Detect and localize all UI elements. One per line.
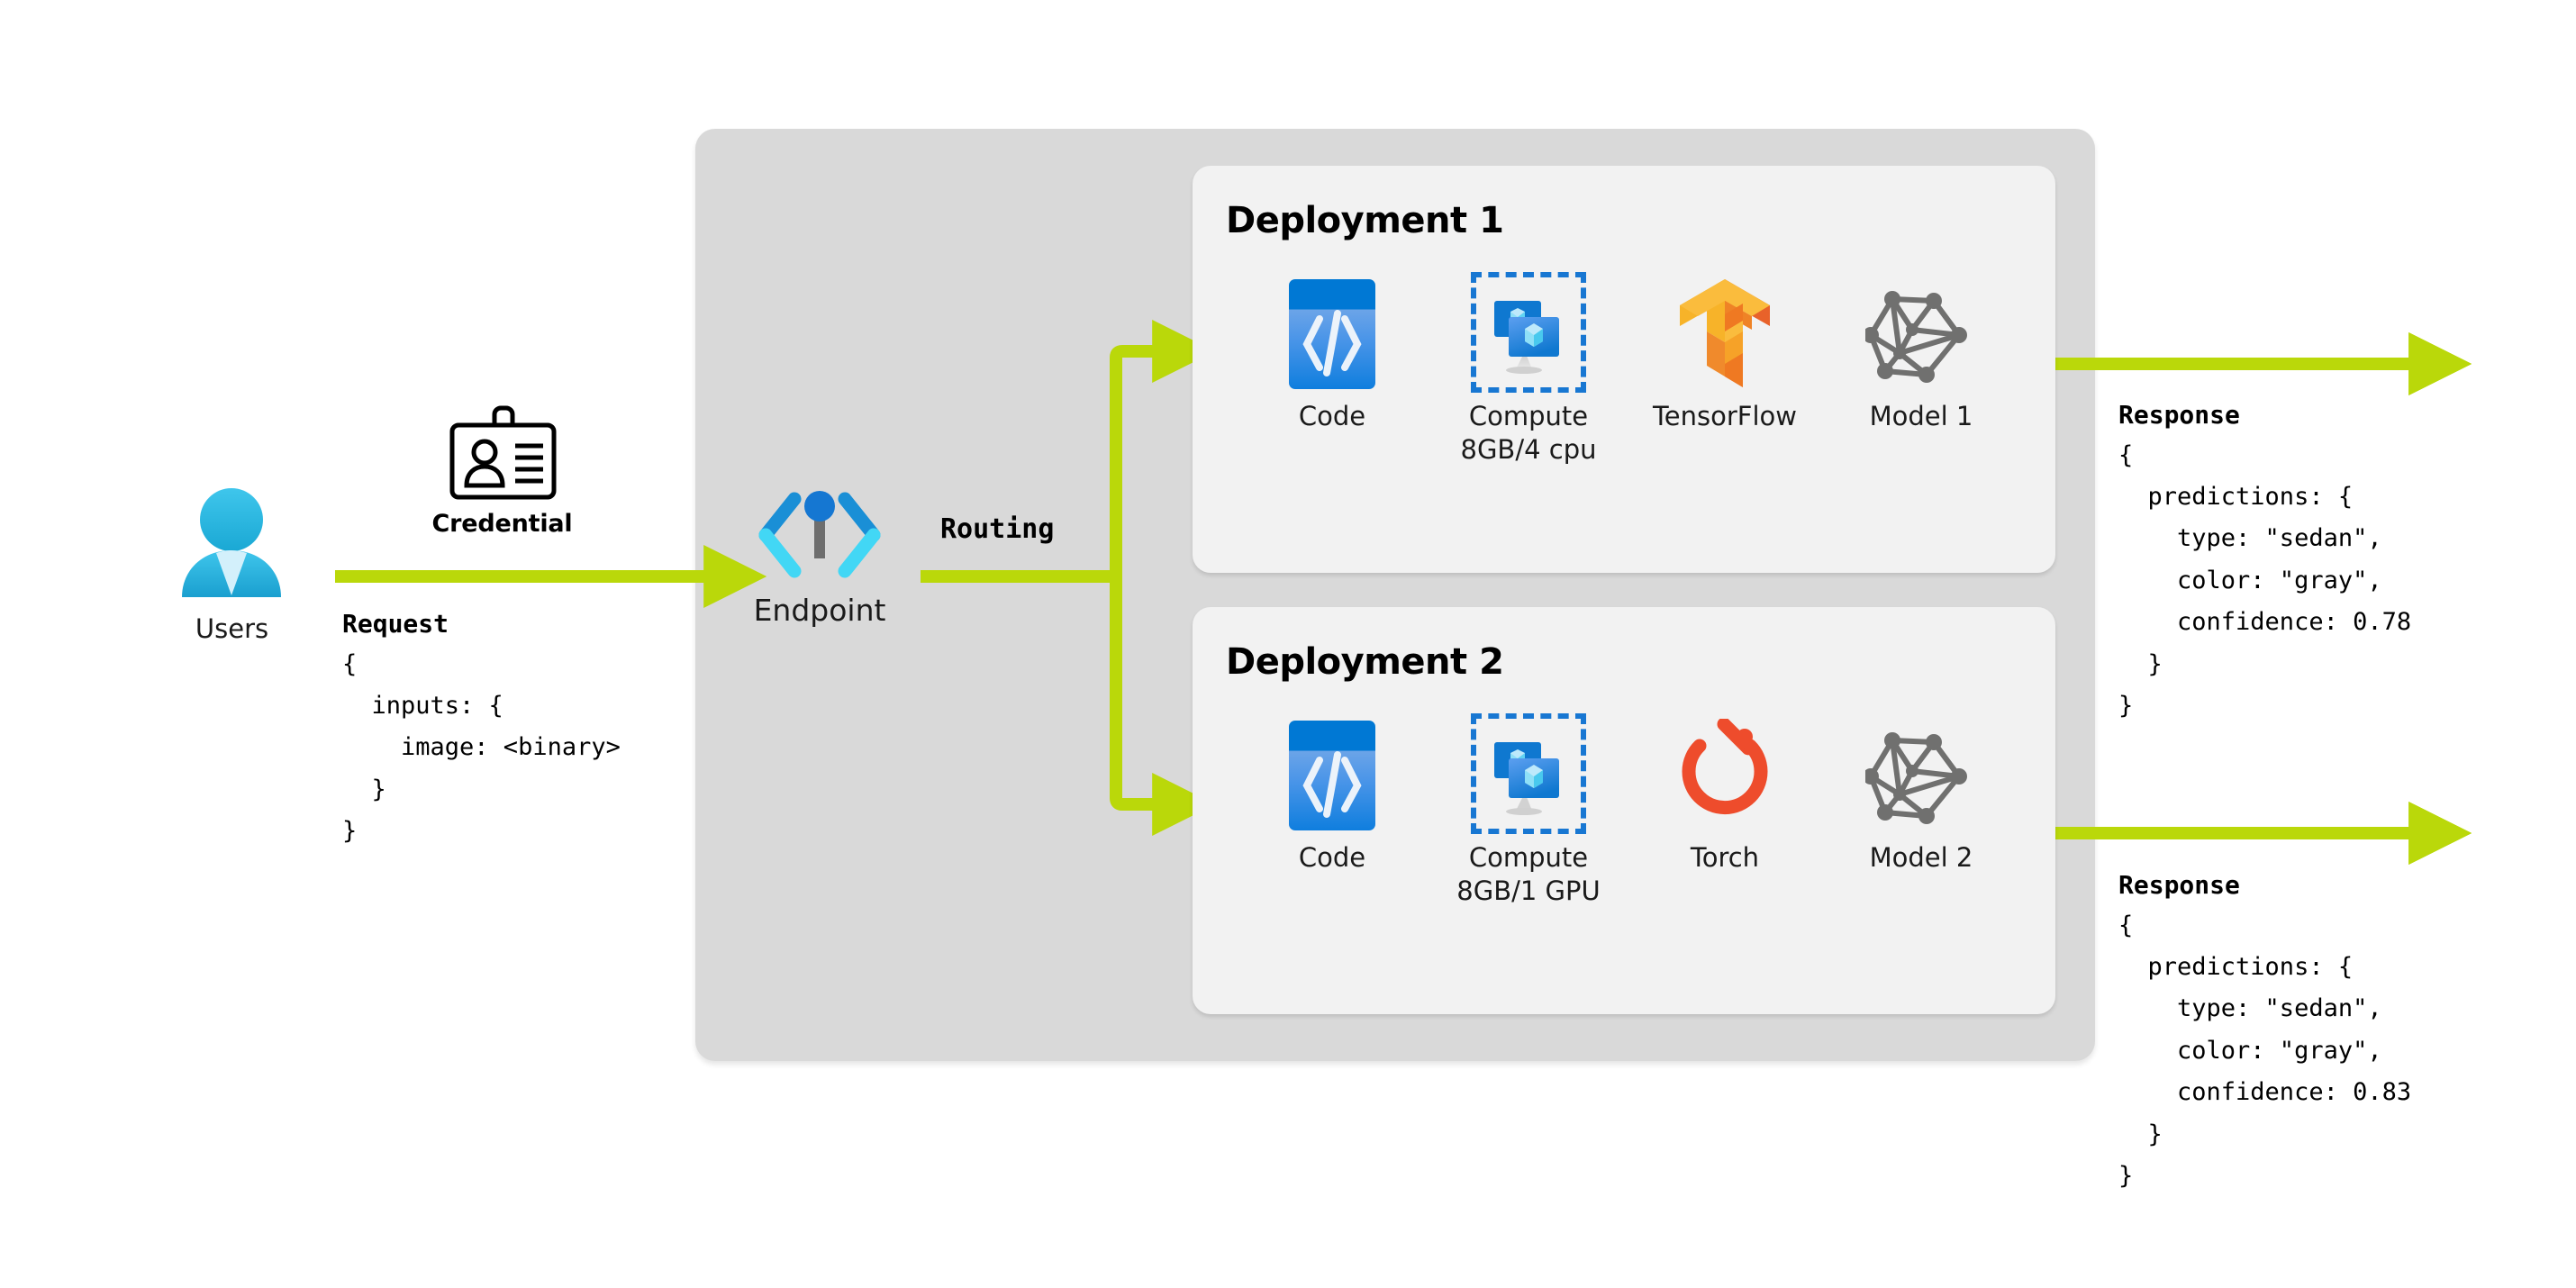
tensorflow-logo-icon (1671, 276, 1779, 391)
compute-monitors-icon (1482, 728, 1575, 821)
code-icon (1247, 274, 1418, 393)
deployment-2-compute-item[interactable]: Compute 8GB/1 GPU (1443, 715, 1614, 908)
code-glyph-icon (1289, 721, 1375, 830)
deployment-1-framework-item[interactable]: TensorFlow (1639, 274, 1810, 433)
deployment-2-model-label: Model 2 (1836, 841, 2007, 875)
routing-label: Routing (940, 513, 1054, 545)
response-2-heading: Response (2118, 866, 2411, 905)
deployment-1-framework-label: TensorFlow (1639, 400, 1810, 433)
users-label: Users (167, 613, 297, 644)
deployment-2-compute-sublabel: 8GB/1 GPU (1443, 875, 1614, 908)
deployment-2-code-item[interactable]: Code (1247, 715, 1418, 875)
response-payload-2: Response { predictions: { type: "sedan",… (2118, 866, 2411, 1198)
deployment-2-icon-row: Code (1247, 715, 2021, 985)
code-glyph-icon (1289, 279, 1375, 389)
deployment-1-compute-sublabel: 8GB/4 cpu (1443, 433, 1614, 467)
request-body: { inputs: { image: <binary> } } (342, 644, 621, 853)
compute-instance-icon (1443, 274, 1614, 393)
response-1-body: { predictions: { type: "sedan", color: "… (2118, 435, 2411, 728)
credential-label: Credential (423, 510, 581, 538)
response-1-heading: Response (2118, 396, 2411, 435)
endpoint-node: Endpoint (739, 486, 901, 628)
deployment-2-code-label: Code (1247, 841, 1418, 875)
request-heading: Request (342, 605, 621, 644)
request-payload: Request { inputs: { image: <binary> } } (342, 605, 621, 853)
response-2-body: { predictions: { type: "sedan", color: "… (2118, 905, 2411, 1198)
deployment-1-code-label: Code (1247, 400, 1418, 433)
model-graph-icon (1836, 274, 2007, 393)
endpoint-label: Endpoint (739, 593, 901, 628)
pytorch-logo-icon (1673, 719, 1777, 830)
deployment-1-icon-row: Code (1247, 274, 2021, 544)
diagram-canvas: Users Credential Request { inputs: { ima… (0, 0, 2576, 1288)
compute-monitors-icon (1482, 286, 1575, 380)
deployment-1-title: Deployment 1 (1226, 200, 1503, 241)
endpoint-code-brackets-icon (753, 486, 886, 584)
id-badge-icon (444, 405, 561, 503)
pytorch-icon (1639, 715, 1810, 834)
deployment-2-title: Deployment 2 (1226, 641, 1503, 683)
tensorflow-icon (1639, 274, 1810, 393)
deployment-panel-2[interactable]: Deployment 2 Code (1193, 607, 2055, 1014)
deployment-panel-1[interactable]: Deployment 1 Code (1193, 166, 2055, 573)
deployment-2-framework-item[interactable]: Torch (1639, 715, 1810, 875)
model-network-icon (1865, 277, 1977, 389)
model-graph-icon (1836, 715, 2007, 834)
users-node: Users (167, 482, 297, 644)
credential-node: Credential (423, 405, 581, 538)
deployment-2-framework-label: Torch (1639, 841, 1810, 875)
deployment-2-model-item[interactable]: Model 2 (1836, 715, 2007, 875)
deployment-1-compute-item[interactable]: Compute 8GB/4 cpu (1443, 274, 1614, 467)
deployment-1-model-label: Model 1 (1836, 400, 2007, 433)
deployment-1-model-item[interactable]: Model 1 (1836, 274, 2007, 433)
code-icon (1247, 715, 1418, 834)
deployment-2-compute-label: Compute (1443, 841, 1614, 875)
model-network-icon (1865, 719, 1977, 830)
response-payload-1: Response { predictions: { type: "sedan",… (2118, 396, 2411, 728)
compute-instance-icon (1443, 715, 1614, 834)
user-avatar-icon (167, 482, 297, 608)
deployment-1-compute-label: Compute (1443, 400, 1614, 433)
deployment-1-code-item[interactable]: Code (1247, 274, 1418, 433)
